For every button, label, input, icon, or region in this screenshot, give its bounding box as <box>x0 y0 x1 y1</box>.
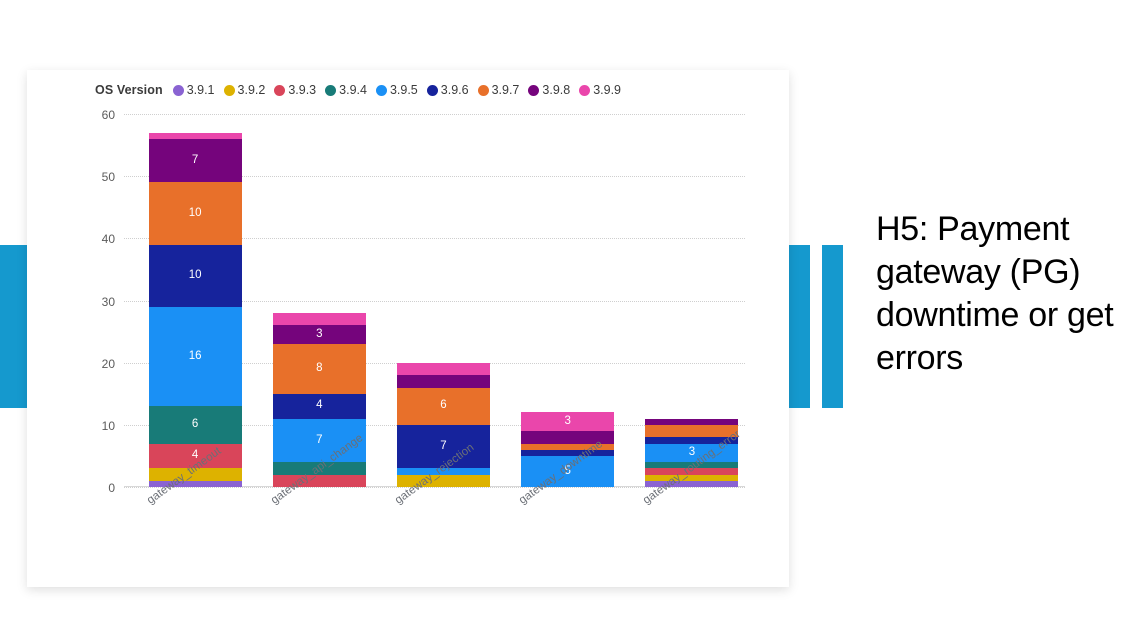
legend-item-label: 3.9.6 <box>441 83 469 97</box>
bar-segment-label: 3 <box>564 416 570 428</box>
bar-segment-label: 7 <box>316 435 322 447</box>
bar-segment[interactable]: 6 <box>397 388 490 425</box>
bar-group-gateway_timeout[interactable]: 461610107gateway_timeout <box>149 133 242 487</box>
y-axis-tick-label: 20 <box>102 357 115 371</box>
legend-item-label: 3.9.7 <box>492 83 520 97</box>
legend-item-3.9.8[interactable]: 3.9.8 <box>528 83 570 97</box>
accent-bar-right-2 <box>822 245 843 408</box>
page-title: H5: Payment gateway (PG) downtime or get… <box>876 208 1126 380</box>
bar-group-gateway_downtime[interactable]: 53gateway_downtime <box>521 412 614 487</box>
bar-segment-label: 16 <box>189 351 202 363</box>
y-axis-tick-label: 30 <box>102 295 115 309</box>
y-axis-tick-label: 10 <box>102 419 115 433</box>
legend-item-label: 3.9.9 <box>593 83 621 97</box>
bar-segment[interactable]: 16 <box>149 307 242 406</box>
legend-swatch-icon <box>579 85 590 96</box>
bar-segment-label: 3 <box>316 329 322 341</box>
legend-item-label: 3.9.8 <box>542 83 570 97</box>
legend-swatch-icon <box>478 85 489 96</box>
legend-item-3.9.7[interactable]: 3.9.7 <box>478 83 520 97</box>
chart-card: OS Version 3.9.13.9.23.9.33.9.43.9.53.9.… <box>27 70 789 587</box>
accent-bar-left <box>0 245 27 408</box>
y-axis-tick-label: 40 <box>102 232 115 246</box>
bar-segment-label: 6 <box>440 400 446 412</box>
legend-swatch-icon <box>325 85 336 96</box>
y-axis-tick-label: 0 <box>108 481 115 495</box>
legend-item-label: 3.9.5 <box>390 83 418 97</box>
bar-segment[interactable] <box>397 363 490 375</box>
legend-items: 3.9.13.9.23.9.33.9.43.9.53.9.63.9.73.9.8… <box>173 83 630 97</box>
bar-group-gateway_rejection[interactable]: 76gateway_rejection <box>397 363 490 487</box>
legend-item-label: 3.9.2 <box>238 83 266 97</box>
chart-legend: OS Version 3.9.13.9.23.9.33.9.43.9.53.9.… <box>95 83 630 97</box>
bar-segment[interactable]: 6 <box>149 406 242 443</box>
gridline: 60 <box>124 114 745 115</box>
legend-swatch-icon <box>427 85 438 96</box>
bar-segment[interactable]: 4 <box>273 394 366 419</box>
legend-title: OS Version <box>95 83 163 97</box>
bar-segment[interactable]: 10 <box>149 245 242 307</box>
legend-swatch-icon <box>528 85 539 96</box>
bar-segment[interactable] <box>273 313 366 325</box>
bar-segment-label: 7 <box>440 441 446 453</box>
legend-item-label: 3.9.1 <box>187 83 215 97</box>
bar-segment-label: 4 <box>316 400 322 412</box>
accent-bar-right-1 <box>789 245 810 408</box>
bar-segment-label: 10 <box>189 270 202 282</box>
legend-item-3.9.9[interactable]: 3.9.9 <box>579 83 621 97</box>
legend-swatch-icon <box>224 85 235 96</box>
legend-swatch-icon <box>173 85 184 96</box>
bar-segment[interactable]: 7 <box>149 139 242 183</box>
bar-segment[interactable]: 3 <box>521 412 614 431</box>
bar-segment[interactable] <box>397 375 490 387</box>
bar-segment-label: 7 <box>192 155 198 167</box>
legend-item-3.9.2[interactable]: 3.9.2 <box>224 83 266 97</box>
y-axis-tick-label: 50 <box>102 170 115 184</box>
legend-item-label: 3.9.3 <box>288 83 316 97</box>
legend-item-3.9.1[interactable]: 3.9.1 <box>173 83 215 97</box>
y-axis-tick-label: 60 <box>102 108 115 122</box>
bar-segment-label: 10 <box>189 208 202 220</box>
bar-segment-label: 6 <box>192 419 198 431</box>
legend-item-3.9.4[interactable]: 3.9.4 <box>325 83 367 97</box>
bar-segment-label: 8 <box>316 363 322 375</box>
legend-item-3.9.6[interactable]: 3.9.6 <box>427 83 469 97</box>
plot-area: 0102030405060 461610107gateway_timeout74… <box>124 114 745 487</box>
legend-item-3.9.3[interactable]: 3.9.3 <box>274 83 316 97</box>
legend-item-3.9.5[interactable]: 3.9.5 <box>376 83 418 97</box>
legend-swatch-icon <box>376 85 387 96</box>
bar-group-gateway_routing_error[interactable]: 3gateway_routing_error <box>645 419 738 487</box>
bar-segment[interactable]: 8 <box>273 344 366 394</box>
bar-segment[interactable]: 10 <box>149 182 242 244</box>
bar-group-gateway_api_change[interactable]: 7483gateway_api_change <box>273 313 366 487</box>
legend-swatch-icon <box>274 85 285 96</box>
bar-segment[interactable]: 3 <box>273 325 366 344</box>
legend-item-label: 3.9.4 <box>339 83 367 97</box>
